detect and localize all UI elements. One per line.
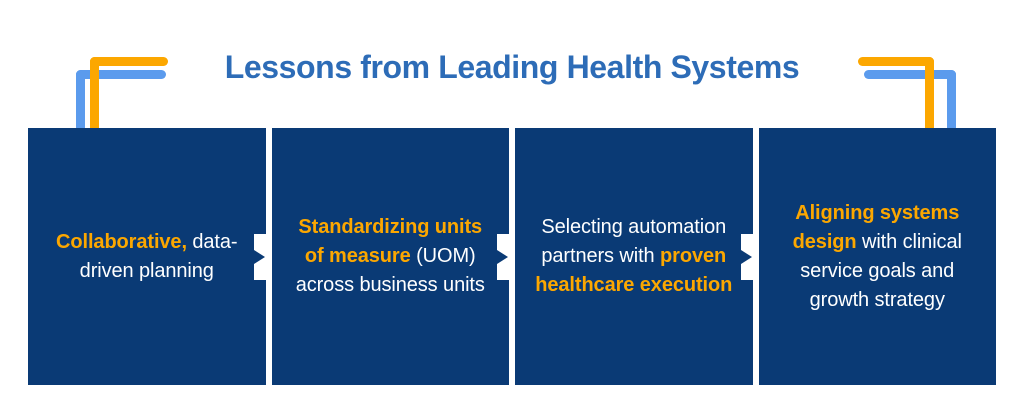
step-text-3: Selecting automation partners with prove… bbox=[531, 213, 737, 300]
step-card-3: Selecting automation partners with prove… bbox=[515, 128, 753, 385]
step-card-4: Aligning systems design with clinical se… bbox=[759, 128, 997, 385]
step-text-1: Collaborative, data-driven planning bbox=[44, 228, 250, 286]
infographic-root: Lessons from Leading Health Systems Coll… bbox=[0, 0, 1024, 418]
step-card-1: Collaborative, data-driven planning bbox=[28, 128, 266, 385]
chevron-right-icon bbox=[254, 234, 272, 280]
page-title: Lessons from Leading Health Systems bbox=[0, 48, 1024, 86]
step-highlight-text: Collaborative, bbox=[56, 231, 187, 253]
step-text-2: Standardizing units of measure (UOM) acr… bbox=[288, 213, 494, 300]
step-card-2: Standardizing units of measure (UOM) acr… bbox=[272, 128, 510, 385]
chevron-right-icon bbox=[741, 234, 759, 280]
step-list: Collaborative, data-driven planning Stan… bbox=[28, 128, 996, 385]
step-text-4: Aligning systems design with clinical se… bbox=[775, 199, 981, 315]
chevron-right-icon bbox=[497, 234, 515, 280]
